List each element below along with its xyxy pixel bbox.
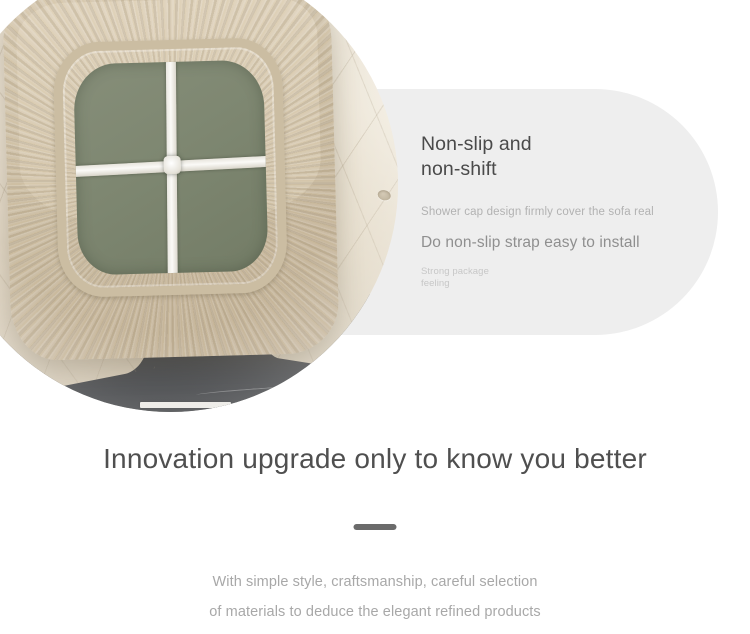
floor-pattern-detail	[196, 384, 326, 398]
dash-divider-icon	[354, 524, 397, 530]
feature-heading: Non-slip and non-shift	[421, 132, 701, 182]
strap-center-junction	[163, 156, 181, 174]
sage-green-cushion	[73, 60, 268, 276]
description-line-1: With simple style, craftsmanship, carefu…	[0, 567, 750, 597]
floor-white-label	[140, 402, 230, 408]
section-tagline: Innovation upgrade only to know you bett…	[0, 443, 750, 475]
sofa-cushion-cover	[2, 0, 339, 362]
description-line-2: of materials to deduce the elegant refin…	[0, 597, 750, 627]
feature-caption-primary: Shower cap design firmly cover the sofa …	[421, 206, 701, 218]
feature-caption-secondary: Strong package feeling	[421, 266, 701, 291]
product-photo-circle	[0, 0, 398, 412]
section-description: With simple style, craftsmanship, carefu…	[0, 567, 750, 628]
product-feature-banner: Non-slip and non-shift Shower cap design…	[0, 0, 750, 634]
feature-subheading: Do non-slip strap easy to install	[421, 234, 701, 252]
photo-scene	[0, 0, 398, 412]
feature-text-block: Non-slip and non-shift Shower cap design…	[421, 132, 701, 291]
